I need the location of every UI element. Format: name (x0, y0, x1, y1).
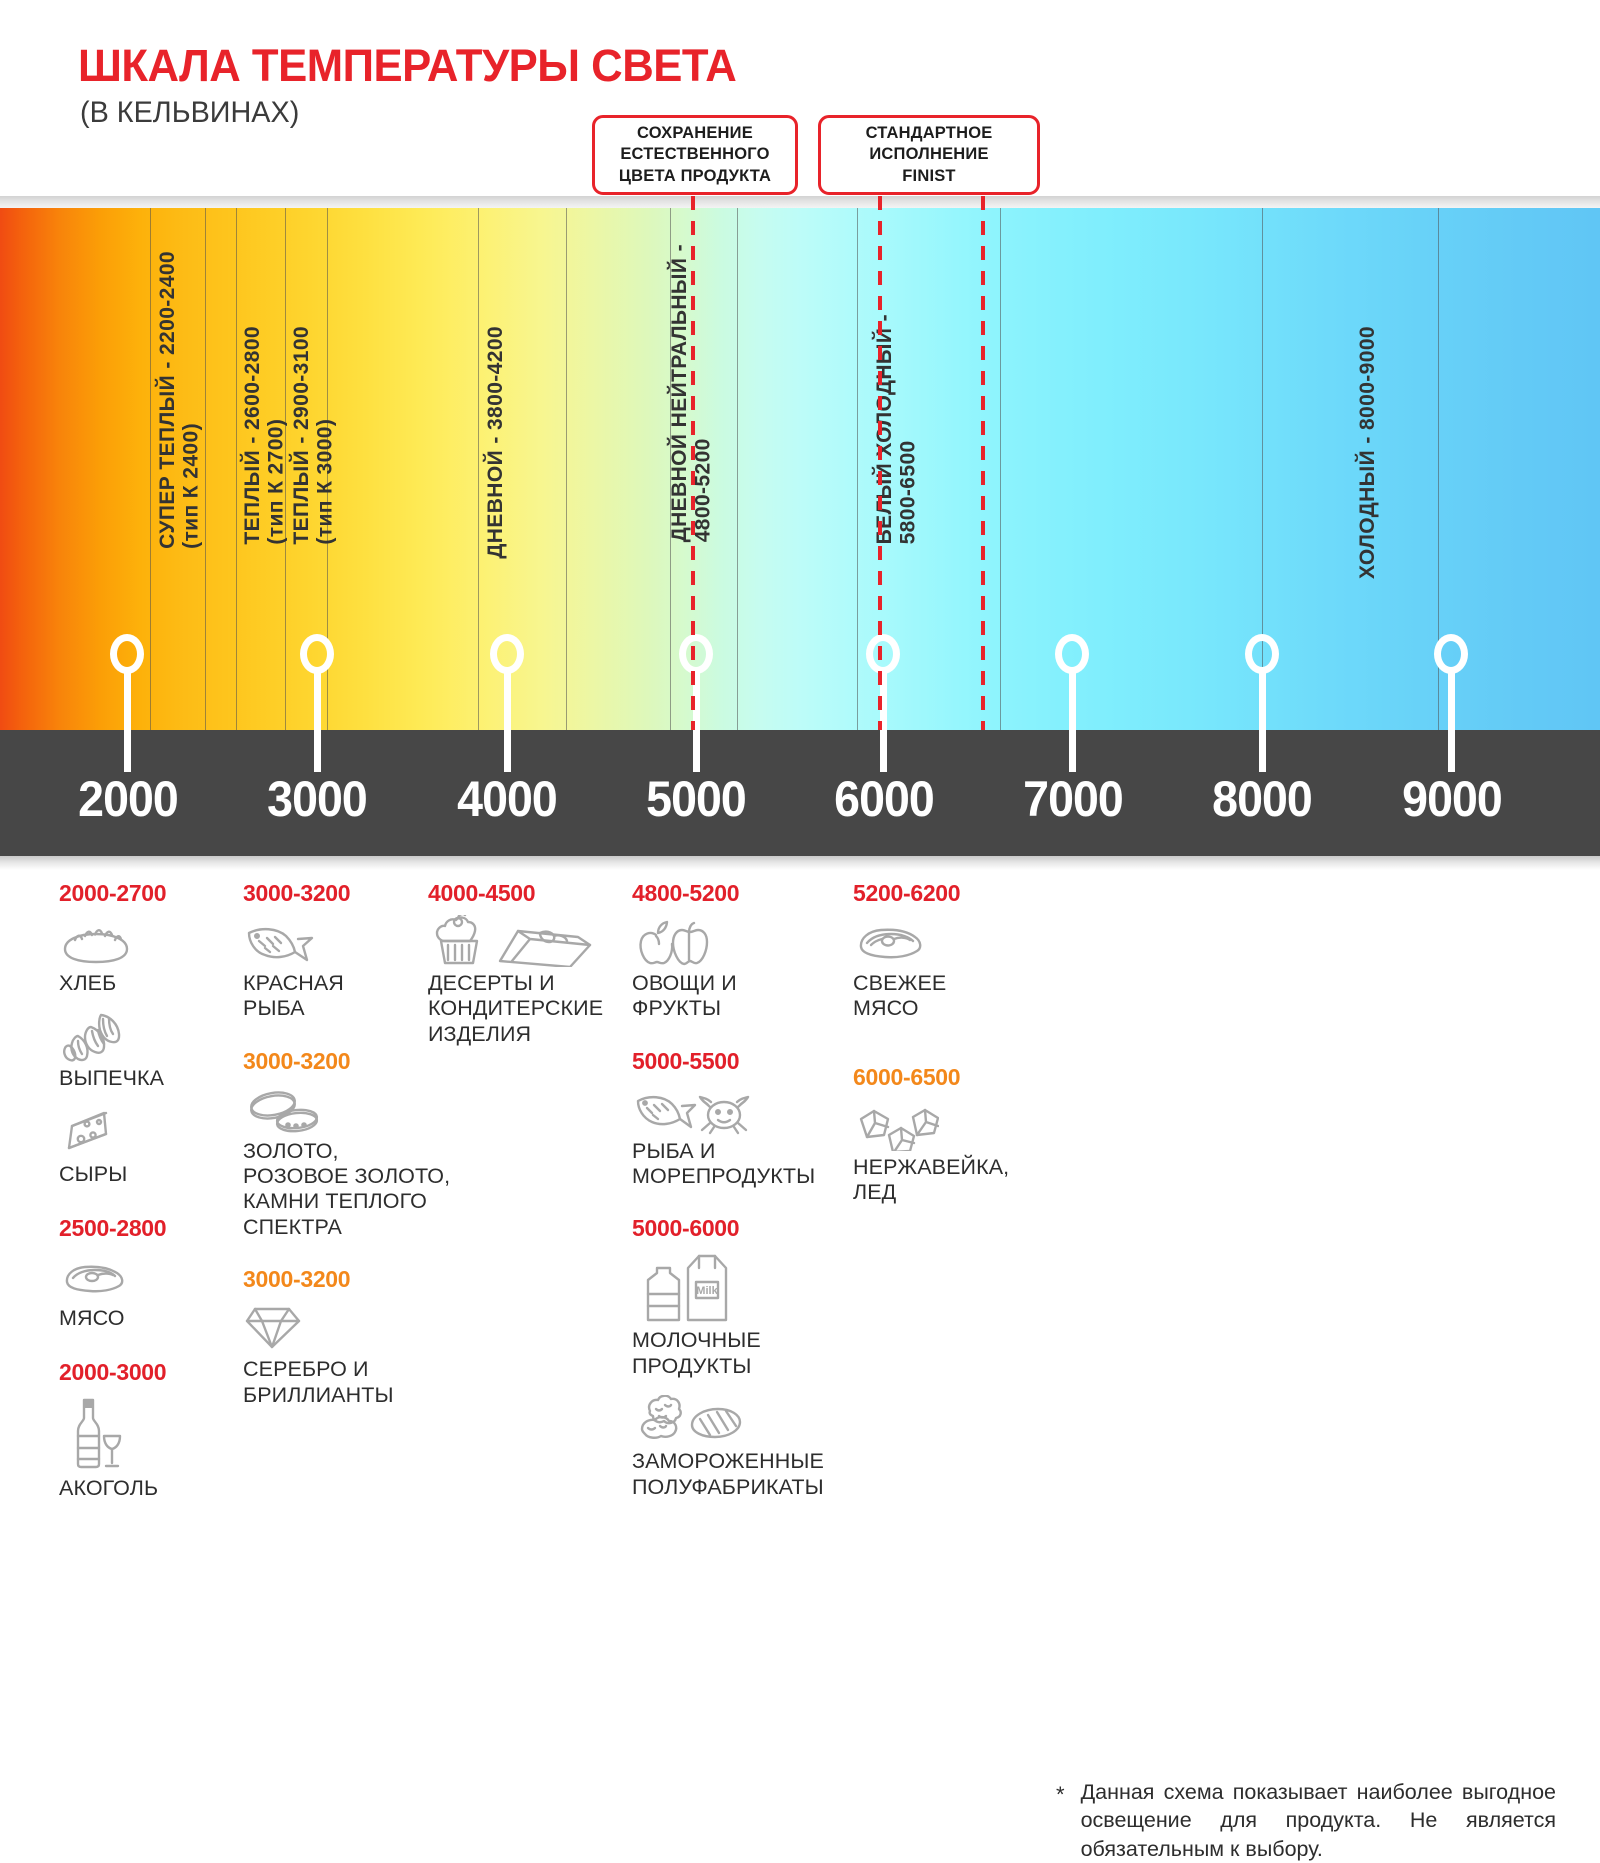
scale-tick-2000: 2000 (78, 770, 178, 828)
fruit-vegetable-icon (632, 915, 872, 967)
seafood-icon (632, 1083, 872, 1135)
dashed-guide-finist-end (981, 196, 985, 730)
steak-icon (59, 1250, 234, 1302)
pin-ring (1055, 634, 1089, 674)
legend-range: 3000-3200 (243, 1266, 493, 1293)
legend-column-5: 5200-6200 СВЕЖЕЕ М (853, 880, 1043, 1219)
legend-range: 2000-3000 (59, 1359, 234, 1386)
dessert-icon (428, 915, 628, 967)
infographic-page: ШКАЛА ТЕМПЕРАТУРЫ СВЕТА (В КЕЛЬВИНАХ) СО… (0, 0, 1600, 1600)
legend-item-label: МЯСО (59, 1306, 234, 1331)
legend-item: СЕРЕБРО И БРИЛЛИАНТЫ (243, 1301, 493, 1408)
svg-text:Milk: Milk (696, 1285, 718, 1297)
dashed-guide-natural-start (691, 196, 695, 730)
legend-item: ЗАМОРОЖЕННЫЕ ПОЛУФАБРИКАТЫ (632, 1393, 872, 1500)
scale-tick-6000: 6000 (834, 770, 934, 828)
alcohol-icon (59, 1394, 234, 1472)
legend-item: МЯСО (59, 1250, 234, 1331)
footnote-star: * (1056, 1778, 1065, 1806)
pin-stem (1259, 670, 1266, 772)
legend-range: 2500-2800 (59, 1215, 234, 1242)
legend-item: ОВОЩИ И ФРУКТЫ (632, 915, 872, 1022)
legend-item: ЗОЛОТО, РОЗОВОЕ ЗОЛОТО, КАМНИ ТЕПЛОГО СП… (243, 1083, 493, 1240)
legend-group: 2000-2700 ХЛЕБ (59, 880, 234, 1187)
zone-divider (236, 208, 237, 730)
legend: 2000-2700 ХЛЕБ (0, 880, 1600, 1600)
legend-group: 5000-6000 Milk (632, 1215, 872, 1499)
zone-divider (1000, 208, 1001, 730)
scale-bar (0, 730, 1600, 856)
legend-range: 5000-5500 (632, 1048, 872, 1075)
zone-divider (566, 208, 567, 730)
zone-label-cold: ХОЛОДНЫЙ - 8000-9000 (1356, 326, 1380, 579)
legend-item: ВЫПЕЧКА (59, 1010, 234, 1091)
page-subtitle: (В КЕЛЬВИНАХ) (80, 96, 299, 130)
pin-ring (866, 634, 900, 674)
legend-group: 6000-6500 (853, 1064, 1043, 1206)
legend-group: 4800-5200 (632, 880, 872, 1022)
dashed-guide-finist-start (878, 196, 882, 730)
legend-item-label: СВЕЖЕЕ МЯСО (853, 971, 1043, 1022)
legend-item-label: РЫБА И МОРЕПРОДУКТЫ (632, 1139, 872, 1190)
diamond-icon (243, 1301, 493, 1353)
legend-range: 6000-6500 (853, 1064, 1043, 1091)
legend-item-label: МОЛОЧНЫЕ ПРОДУКТЫ (632, 1328, 872, 1379)
scale-tick-8000: 8000 (1212, 770, 1312, 828)
legend-item: ДЕСЕРТЫ И КОНДИТЕРСКИЕ ИЗДЕЛИЯ (428, 915, 628, 1047)
legend-item-label: ВЫПЕЧКА (59, 1066, 234, 1091)
pin-stem (1069, 670, 1076, 772)
zone-divider (737, 208, 738, 730)
legend-group: 4000-4500 (428, 880, 628, 1047)
legend-item-label: ХЛЕБ (59, 971, 234, 996)
legend-range: 2000-2700 (59, 880, 234, 907)
legend-group: 3000-3200 (243, 1048, 493, 1240)
pin-ring (1434, 634, 1468, 674)
zone-divider (478, 208, 479, 730)
scale-tick-5000: 5000 (646, 770, 746, 828)
legend-item-label: ДЕСЕРТЫ И КОНДИТЕРСКИЕ ИЗДЕЛИЯ (428, 971, 628, 1047)
legend-item: АКОГОЛЬ (59, 1394, 234, 1501)
bread-icon (59, 915, 234, 967)
scale-tick-9000: 9000 (1402, 770, 1502, 828)
scale-tick-7000: 7000 (1023, 770, 1123, 828)
pin-stem (314, 670, 321, 772)
legend-range: 5200-6200 (853, 880, 1043, 907)
legend-item-label: ЗАМОРОЖЕННЫЕ ПОЛУФАБРИКАТЫ (632, 1449, 872, 1500)
legend-range: 4800-5200 (632, 880, 872, 907)
ice-icon (853, 1099, 1043, 1151)
zone-divider (205, 208, 206, 730)
legend-column-4: 4800-5200 (632, 880, 872, 1514)
pin-stem (1448, 670, 1455, 772)
callout-natural-color: СОХРАНЕНИЕ ЕСТЕСТВЕННОГО ЦВЕТА ПРОДУКТА (592, 115, 798, 195)
zone-divider (150, 208, 151, 730)
legend-item: РЫБА И МОРЕПРОДУКТЫ (632, 1083, 872, 1190)
frozen-icon (632, 1393, 872, 1445)
zone-label-warm-2700: ТЕПЛЫЙ - 2600-2800 (тип К 2700) (241, 326, 288, 545)
zone-label-super-warm: СУПЕР ТЕПЛЫЙ - 2200-2400 (тип К 2400) (156, 251, 203, 549)
pin-ring (1245, 634, 1279, 674)
legend-item-label: АКОГОЛЬ (59, 1476, 234, 1501)
legend-group: 5200-6200 СВЕЖЕЕ М (853, 880, 1043, 1022)
callout-natural-color-text: СОХРАНЕНИЕ ЕСТЕСТВЕННОГО ЦВЕТА ПРОДУКТА (619, 123, 771, 187)
footnote: * Данная схема показывает наиболее выгод… (1056, 1778, 1556, 1863)
page-title: ШКАЛА ТЕМПЕРАТУРЫ СВЕТА (78, 40, 736, 92)
scale-tick-3000: 3000 (267, 770, 367, 828)
legend-group: 5000-5500 (632, 1048, 872, 1190)
cheese-icon (59, 1106, 234, 1158)
legend-group: 2000-3000 АКОГОЛЬ (59, 1359, 234, 1501)
legend-range: 5000-6000 (632, 1215, 872, 1242)
scale-tick-4000: 4000 (457, 770, 557, 828)
legend-item: СВЕЖЕЕ МЯСО (853, 915, 1043, 1022)
zone-divider (857, 208, 858, 730)
legend-item: Milk МОЛОЧНЫЕ ПРОДУКТЫ (632, 1250, 872, 1379)
pin-stem (504, 670, 511, 772)
jewelry-icon (243, 1083, 493, 1135)
callout-finist-standard: СТАНДАРТНОЕ ИСПОЛНЕНИЕ FINIST (818, 115, 1040, 195)
pin-ring (300, 634, 334, 674)
legend-item-label: СЕРЕБРО И БРИЛЛИАНТЫ (243, 1357, 493, 1408)
callout-finist-standard-text: СТАНДАРТНОЕ ИСПОЛНЕНИЕ FINIST (866, 123, 993, 187)
legend-item-label: ЗОЛОТО, РОЗОВОЕ ЗОЛОТО, КАМНИ ТЕПЛОГО СП… (243, 1139, 493, 1240)
legend-group: 2500-2800 МЯСО (59, 1215, 234, 1331)
legend-group: 3000-3200 СЕРЕБРО И БРИЛЛИАНТЫ (243, 1266, 493, 1408)
pin-ring (110, 634, 144, 674)
legend-item: НЕРЖАВЕЙКА, ЛЕД (853, 1099, 1043, 1206)
legend-item-label: СЫРЫ (59, 1162, 234, 1187)
milk-icon: Milk (632, 1250, 872, 1324)
croissant-icon (59, 1010, 234, 1062)
header: ШКАЛА ТЕМПЕРАТУРЫ СВЕТА (В КЕЛЬВИНАХ) (0, 0, 1600, 195)
temperature-gradient-bar: СУПЕР ТЕПЛЫЙ - 2200-2400 (тип К 2400) ТЕ… (0, 196, 1600, 730)
legend-item: ХЛЕБ (59, 915, 234, 996)
bar-top-shadow (0, 196, 1600, 208)
legend-column-1: 2000-2700 ХЛЕБ (59, 880, 234, 1516)
fresh-meat-icon (853, 915, 1043, 967)
pin-ring (490, 634, 524, 674)
legend-item: СЫРЫ (59, 1106, 234, 1187)
zone-label-daylight: ДНЕВНОЙ - 3800-4200 (484, 326, 508, 559)
zone-label-warm-3000: ТЕПЛЫЙ - 2900-3100 (тип К 3000) (290, 326, 337, 545)
legend-range: 4000-4500 (428, 880, 628, 907)
legend-column-3: 4000-4500 (428, 880, 628, 1061)
pin-ring (679, 634, 713, 674)
pin-stem (124, 670, 131, 772)
footnote-text: Данная схема показывает наиболее выгодно… (1081, 1778, 1556, 1863)
legend-item-label: НЕРЖАВЕЙКА, ЛЕД (853, 1155, 1043, 1206)
legend-item-label: ОВОЩИ И ФРУКТЫ (632, 971, 872, 1022)
scale-bottom-shadow (0, 856, 1600, 870)
